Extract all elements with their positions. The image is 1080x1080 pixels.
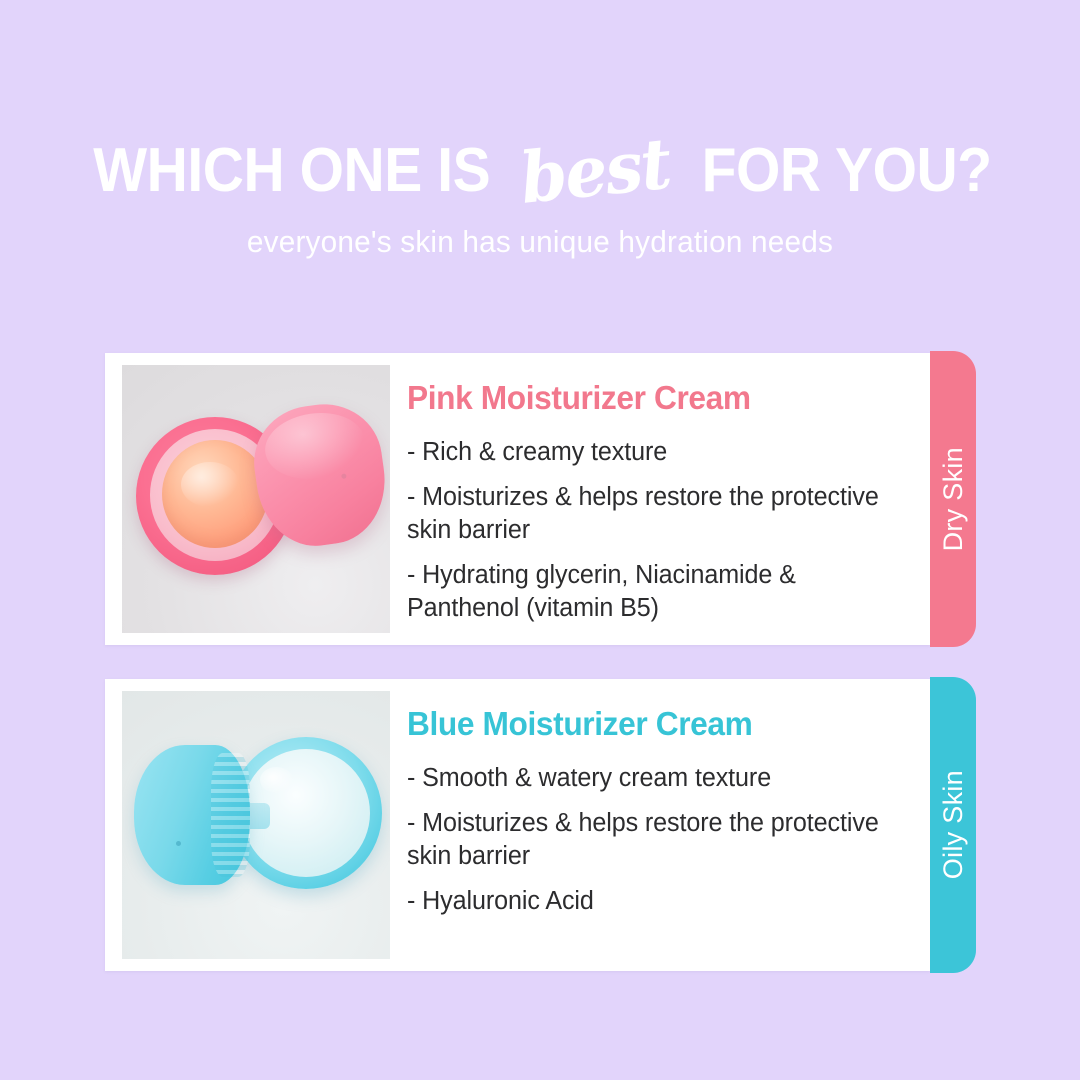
pink-jar-illustration (122, 365, 390, 633)
card-bullet: - Moisturizes & helps restore the protec… (407, 807, 897, 872)
product-image-pink (122, 365, 390, 633)
side-tab-dry-skin[interactable]: Dry Skin (930, 351, 976, 647)
blue-jar-illustration (122, 691, 390, 959)
card-bullet: - Moisturizes & helps restore the protec… (407, 481, 897, 546)
headline-text-post: FOR YOU? (701, 140, 991, 202)
card-bullet: - Hydrating glycerin, Niacinamide & Pant… (407, 559, 897, 624)
card-bullet: - Smooth & watery cream texture (407, 762, 897, 794)
headline: WHICH ONE IS best FOR YOU? (0, 132, 1080, 202)
pink-lid-dot-icon (341, 473, 347, 479)
poster-canvas: WHICH ONE IS best FOR YOU? everyone's sk… (0, 0, 1080, 1080)
headline-text-pre: WHICH ONE IS (93, 140, 490, 202)
card-title-pink: Pink Moisturizer Cream (407, 379, 884, 417)
side-tab-oily-skin[interactable]: Oily Skin (930, 677, 976, 973)
headline-script-word: best (505, 127, 684, 215)
blue-jar-lid-icon (134, 745, 250, 885)
card-bullet: - Hyaluronic Acid (407, 885, 897, 917)
card-title-blue: Blue Moisturizer Cream (407, 705, 884, 743)
product-card-blue[interactable]: Blue Moisturizer Cream - Smooth & watery… (105, 679, 930, 971)
card-bullet: - Rich & creamy texture (407, 436, 897, 468)
blue-lid-dot-icon (176, 841, 181, 846)
product-image-blue (122, 691, 390, 959)
header-subtitle: everyone's skin has unique hydration nee… (22, 224, 1059, 260)
card-body-blue: Blue Moisturizer Cream - Smooth & watery… (390, 679, 930, 918)
card-body-pink: Pink Moisturizer Cream - Rich & creamy t… (390, 353, 930, 624)
side-tab-label-dry-skin: Dry Skin (938, 447, 969, 551)
side-tab-label-oily-skin: Oily Skin (938, 770, 969, 879)
header-block: WHICH ONE IS best FOR YOU? everyone's sk… (0, 132, 1080, 260)
pink-cream-surface-icon (162, 440, 268, 548)
product-card-pink[interactable]: Pink Moisturizer Cream - Rich & creamy t… (105, 353, 930, 645)
